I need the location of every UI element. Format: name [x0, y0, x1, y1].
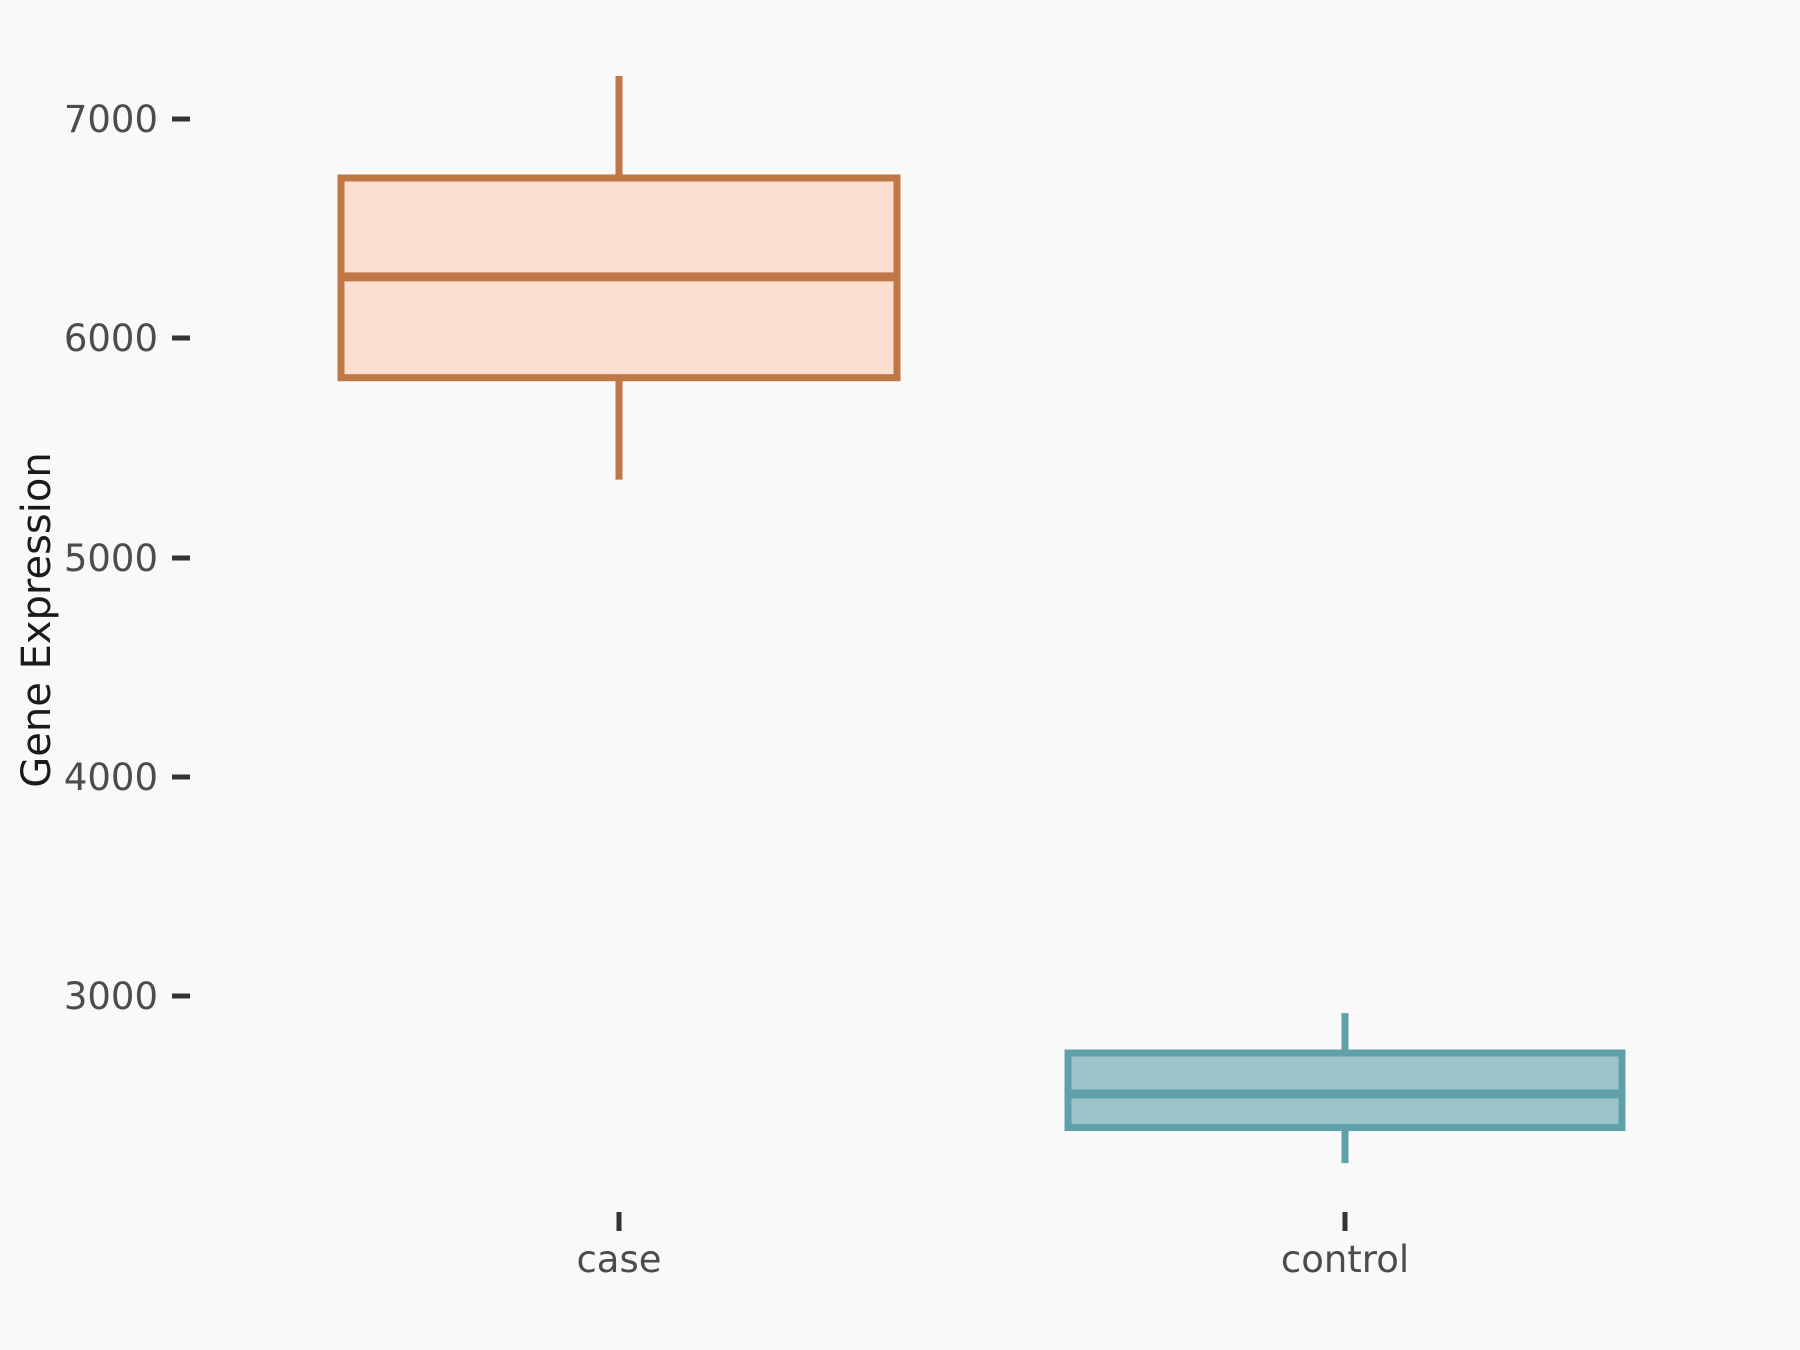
plot-canvas: 7000 6000 5000 4000 3000 Gene Expression: [0, 0, 1800, 1350]
boxplot-figure: 7000 6000 5000 4000 3000 Gene Expression: [0, 0, 1800, 1350]
x-tick-label-control: control: [1281, 1238, 1409, 1281]
y-tick-label-5000: 5000: [64, 537, 158, 580]
y-axis-title: Gene Expression: [14, 452, 60, 787]
x-tick-label-case: case: [576, 1238, 661, 1281]
y-tick-label-4000: 4000: [64, 756, 158, 799]
y-tick-label-3000: 3000: [64, 975, 158, 1018]
y-tick-label-6000: 6000: [64, 317, 158, 360]
y-tick-label-7000: 7000: [64, 98, 158, 141]
